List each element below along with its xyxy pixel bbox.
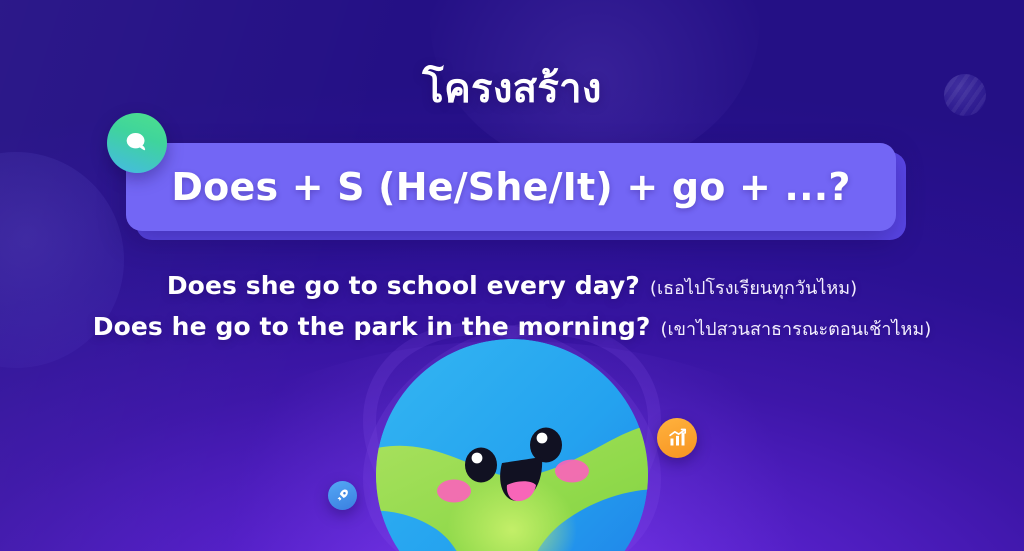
rocket-icon xyxy=(328,481,357,510)
example-translation-th: (เขาไปสวนสาธารณะตอนเช้าไหม) xyxy=(661,314,932,343)
structure-banner: Does + S (He/She/It) + go + ...? xyxy=(126,143,896,231)
structure-formula-text: Does + S (He/She/It) + go + ...? xyxy=(171,165,850,209)
banner-face: Does + S (He/She/It) + go + ...? xyxy=(126,143,896,231)
examples-list: Does she go to school every day? (เธอไปโ… xyxy=(0,268,1024,350)
slide-canvas: โครงสร้าง Does + S (He/She/It) + go + ..… xyxy=(0,0,1024,551)
earth-mascot xyxy=(376,339,648,551)
list-item: Does she go to school every day? (เธอไปโ… xyxy=(0,268,1024,309)
example-prefix: Does she xyxy=(167,271,305,300)
example-sentence-en: Does he go to the park in the morning? xyxy=(93,312,651,341)
example-prefix: Does he xyxy=(93,312,216,341)
example-suffix: to school every day? xyxy=(340,271,640,300)
page-title: โครงสร้าง xyxy=(0,64,1024,114)
example-highlight: go xyxy=(215,312,250,341)
example-sentence-en: Does she go to school every day? xyxy=(167,271,640,300)
example-suffix: to the park in the morning? xyxy=(251,312,651,341)
speech-bubble-icon xyxy=(107,113,167,173)
bar-chart-icon xyxy=(657,418,697,458)
example-translation-th: (เธอไปโรงเรียนทุกวันไหม) xyxy=(650,273,857,302)
example-highlight: go xyxy=(305,271,340,300)
